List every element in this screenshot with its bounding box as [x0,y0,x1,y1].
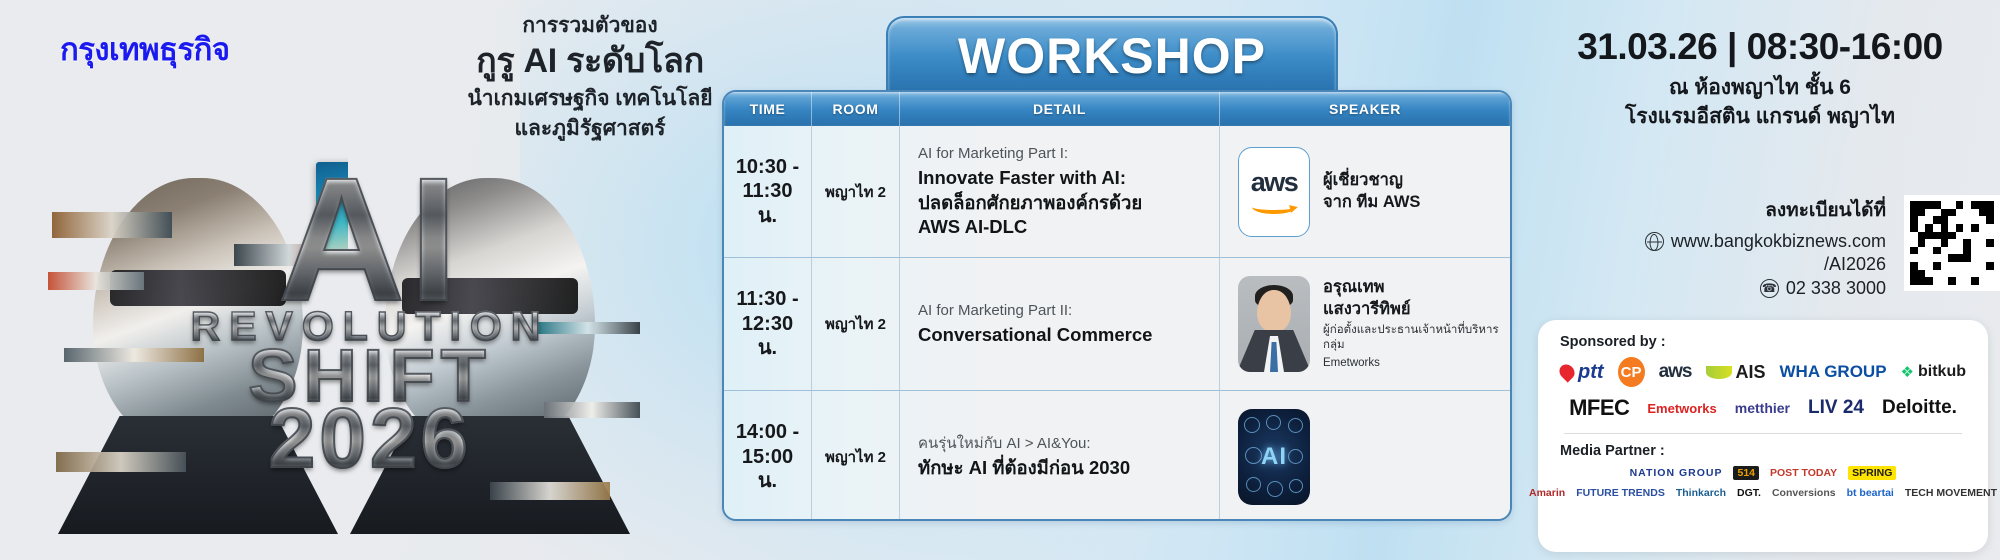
qr-module [1918,270,1926,278]
card-divider [1564,433,1962,434]
cell-detail: AI for Marketing Part I: Innovate Faster… [900,126,1220,257]
ai-tile-label: AI [1261,443,1287,471]
qr-module [1925,232,1933,240]
detail-title-line: Innovate Faster with AI: [918,166,1126,191]
qr-module [1925,209,1933,217]
table-header-row: TIME ROOM DETAIL SPEAKER [724,92,1510,126]
sponsor-card: Sponsored by : ptt CP aws AIS WHA GROUP … [1538,320,1988,552]
qr-module [1941,254,1949,262]
qr-module [1933,270,1941,278]
qr-module [1918,247,1926,255]
media-logo-amarin: Amarin [1529,487,1565,499]
qr-module [1979,201,1987,209]
qr-module [1918,224,1926,232]
qr-module [1910,209,1918,217]
speaker-name-line2: จาก ทีม AWS [1323,192,1420,213]
speaker-name-line2: แสงวารีทิพย์ [1323,299,1500,320]
qr-module [1918,254,1926,262]
qr-module [1948,239,1956,247]
speaker-name: อรุณเทพ [1323,277,1500,298]
sponsor-logo-emetworks: Emetworks [1647,401,1716,416]
qr-module [1986,201,1994,209]
registration-website-path[interactable]: /AI2026 [1824,253,1886,276]
neural-node-icon [1266,415,1281,430]
cell-room: พญาไท 2 [812,258,900,389]
qr-module [1925,247,1933,255]
qr-module [1933,247,1941,255]
sponsor-logo-bitkub: ❖bitkub [1901,363,1966,381]
qr-module [1979,262,1987,270]
qr-module [1925,201,1933,209]
qr-module [1971,270,1979,278]
neural-node-icon [1244,417,1260,433]
qr-module [1956,239,1964,247]
ai-brain-tile-icon: AI [1238,409,1310,505]
media-logo-tech-movement: TECH MOVEMENT [1905,487,1997,499]
qr-module [1941,209,1949,217]
glitch-shard [490,482,610,500]
qr-module [1918,209,1926,217]
headline-line-2: กูรู AI ระดับโลก [440,40,740,83]
qr-module [1986,247,1994,255]
qr-module [1933,262,1941,270]
detail-title-line: ทักษะ AI ที่ต้องมีก่อน 2030 [918,456,1130,481]
qr-module [1910,277,1918,285]
qr-module [1941,277,1949,285]
sponsor-logo-row-2: MFEC Emetworks metthier LIV 24 Deloitte. [1560,395,1966,421]
headline-line-1: การรวมตัวของ [440,12,740,39]
column-header-speaker: SPEAKER [1220,92,1510,126]
sponsor-logo-aws: aws [1659,361,1692,383]
qr-module [1910,201,1918,209]
qr-module [1979,254,1987,262]
media-logo-dgt: DGT. [1737,487,1761,499]
qr-module [1910,216,1918,224]
qr-module [1918,262,1926,270]
qr-module [1971,209,1979,217]
qr-module [1910,224,1918,232]
row-time-end: 15:00 น. [742,446,793,492]
sponsor-logo-liv24: LIV 24 [1808,397,1864,419]
qr-module [1910,232,1918,240]
qr-module [1948,247,1956,255]
brand-logo: กรุงเทพธุรกิจ [60,24,230,74]
qr-module [1941,232,1949,240]
qr-module [1925,224,1933,232]
qr-module [1986,270,1994,278]
sponsor-logo-ptt: ptt [1560,361,1604,384]
row-time-start: 11:30 - [736,288,798,310]
detail-title-line: Conversational Commerce [918,323,1152,348]
qr-module [1918,239,1926,247]
qr-module [1910,247,1918,255]
qr-module [1979,232,1987,240]
qr-module [1933,224,1941,232]
detail-title-line: AWS AI-DLC [918,215,1027,240]
sponsor-logo-metthier: metthier [1735,400,1790,416]
qr-module [1963,232,1971,240]
workshop-tab-label: WORKSHOP [958,27,1266,85]
qr-module [1948,209,1956,217]
table-row: 11:30 - 12:30 น. พญาไท 2 AI for Marketin… [724,258,1510,390]
neural-node-icon [1289,479,1303,493]
qr-module [1986,232,1994,240]
cell-detail: คนรุ่นใหม่กับ AI > AI&You: ทักษะ AI ที่ต… [900,391,1220,521]
qr-module [1941,201,1949,209]
qr-module [1971,254,1979,262]
registration-phone[interactable]: 02 338 3000 [1786,277,1886,300]
workshop-tab: WORKSHOP [886,16,1338,94]
sponsor-logo-mfec: MFEC [1569,395,1629,421]
registration-title: ลงทะเบียนได้ที่ [1538,195,1886,225]
registration-website-path-row[interactable]: /AI2026 [1538,253,1886,276]
registration-block: ลงทะเบียนได้ที่ www.bangkokbiznews.com /… [1520,195,2000,300]
qr-module [1971,262,1979,270]
qr-module [1941,224,1949,232]
qr-module [1979,270,1987,278]
media-logo-nation: NATION GROUP [1630,467,1723,479]
qr-module [1986,254,1994,262]
detail-title-line: ปลดล็อกศักยภาพองค์กรด้วย [918,191,1142,216]
qr-module [1963,247,1971,255]
qr-module [1971,239,1979,247]
artwork-title-lockup: AI REVOLUTION SHIFT 2026 [130,160,610,477]
neural-node-icon [1245,447,1262,464]
speaker-name: ผู้เชี่ยวชาญ [1323,170,1420,191]
sponsored-by-label: Sponsored by : [1560,334,1966,350]
qr-module [1979,216,1987,224]
qr-module [1933,254,1941,262]
cell-speaker: aws ผู้เชี่ยวชาญ จาก ทีม AWS [1220,126,1510,257]
speaker-text: อรุณเทพ แสงวารีทิพย์ ผู้ก่อตั้งและประธาน… [1323,277,1500,370]
qr-module [1918,277,1926,285]
row-time-start: 14:00 - [736,421,799,443]
sponsor-logo-cp: CP [1618,357,1645,387]
workshop-table: TIME ROOM DETAIL SPEAKER 10:30 - 11:30 น… [722,90,1512,521]
table-row: 10:30 - 11:30 น. พญาไท 2 AI for Marketin… [724,126,1510,258]
media-partner-row-2: Amarin FUTURE TRENDS Thinkarch DGT. Conv… [1560,487,1966,499]
qr-module [1925,262,1933,270]
registration-text: ลงทะเบียนได้ที่ www.bangkokbiznews.com /… [1538,195,1890,300]
media-logo-thinkarch: Thinkarch [1676,487,1726,499]
qr-module [1956,270,1964,278]
media-partner-row-1: NATION GROUP 514 POST TODAY SPRING [1560,466,1966,480]
qr-module [1910,254,1918,262]
qr-module [1963,262,1971,270]
qr-module [1979,209,1987,217]
qr-module [1963,270,1971,278]
qr-module [1933,232,1941,240]
artwork-title-year: 2026 [130,400,610,477]
qr-module [1948,216,1956,224]
qr-module [1925,239,1933,247]
qr-module [1986,277,1994,285]
qr-module [1933,216,1941,224]
detail-kicker: AI for Marketing Part II: [918,300,1072,321]
qr-module [1910,239,1918,247]
qr-module [1918,232,1926,240]
workshop-section: WORKSHOP TIME ROOM DETAIL SPEAKER 10:30 … [722,16,1512,521]
qr-module [1979,239,1987,247]
info-panel: 31.03.26 | 08:30-16:00 ณ ห้องพญาไท ชั้น … [1520,0,2000,560]
registration-website[interactable]: www.bangkokbiznews.com [1671,230,1886,253]
sponsor-logo-row-1: ptt CP aws AIS WHA GROUP ❖bitkub [1560,357,1966,387]
media-logo-conversions: Conversions [1772,487,1836,499]
headline-line-4: และภูมิรัฐศาสตร์ [440,115,740,143]
detail-kicker: AI for Marketing Part I: [918,143,1068,164]
qr-module [1979,224,1987,232]
ai-artwork: AI REVOLUTION SHIFT 2026 [30,130,710,560]
qr-module [1910,262,1918,270]
cell-speaker: อรุณเทพ แสงวารีทิพย์ ผู้ก่อตั้งและประธาน… [1220,258,1510,389]
qr-module [1956,201,1964,209]
qr-module [1956,216,1964,224]
event-banner: กรุงเทพธุรกิจ AI REVOLUTION SHIFT 2026 [0,0,2000,560]
qr-module [1948,224,1956,232]
row-time-end: 11:30 น. [742,180,792,226]
column-header-room: ROOM [812,92,900,126]
qr-module [1971,201,1979,209]
row-time-start: 10:30 - [736,156,799,178]
cell-room: พญาไท 2 [812,126,900,257]
qr-module [1963,224,1971,232]
qr-module [1963,277,1971,285]
phone-icon [1760,279,1779,298]
qr-module [1963,254,1971,262]
cell-room: พญาไท 2 [812,391,900,521]
sponsor-logo-ais: AIS [1706,362,1766,383]
row-time-end: 12:30 น. [742,313,793,359]
qr-module [1986,209,1994,217]
qr-module [1933,201,1941,209]
table-row: 14:00 - 15:00 น. พญาไท 2 คนรุ่นใหม่กับ A… [724,391,1510,521]
qr-module [1948,254,1956,262]
avatar-face [1257,290,1291,332]
media-logo-beartai: bt beartai [1847,487,1894,499]
qr-module [1948,277,1956,285]
qr-module [1986,262,1994,270]
media-partner-label: Media Partner : [1560,443,1966,459]
cell-speaker: AI [1220,391,1510,521]
qr-module [1918,216,1926,224]
globe-icon [1645,232,1664,251]
venue-line-1: ณ ห้องพญาไท ชั้น 6 [1520,74,2000,103]
qr-module [1986,216,1994,224]
qr-module [1986,224,1994,232]
speaker-role: ผู้ก่อตั้งและประธานเจ้าหน้าที่บริหารกลุ่… [1323,323,1500,352]
aws-wordmark: aws [1251,169,1298,196]
speaker-role-line2: Emetworks [1323,356,1500,371]
qr-module [1933,209,1941,217]
qr-module [1941,239,1949,247]
speaker-text: ผู้เชี่ยวชาญ จาก ทีม AWS [1323,170,1420,213]
qr-code[interactable] [1904,195,2000,291]
qr-module [1956,277,1964,285]
sponsor-logo-deloitte: Deloitte. [1882,397,1957,419]
media-logo-post-today: POST TODAY [1770,467,1837,479]
aws-smile-icon [1252,200,1296,214]
cell-detail: AI for Marketing Part II: Conversational… [900,258,1220,389]
qr-module [1963,201,1971,209]
qr-module [1948,232,1956,240]
neural-node-icon [1246,477,1261,492]
qr-module [1933,277,1941,285]
registration-phone-row[interactable]: 02 338 3000 [1538,277,1886,300]
qr-module [1956,247,1964,255]
qr-module [1956,224,1964,232]
qr-module [1956,209,1964,217]
qr-module [1925,270,1933,278]
venue-line-2: โรงแรมอีสติน แกรนด์ พญาไท [1520,103,2000,132]
cell-time: 10:30 - 11:30 น. [724,126,812,257]
cell-time: 11:30 - 12:30 น. [724,258,812,389]
qr-module [1956,262,1964,270]
neural-node-icon [1267,481,1283,497]
aws-logo-icon: aws [1238,147,1310,237]
qr-module [1918,201,1926,209]
sponsor-logo-wha: WHA GROUP [1780,362,1887,382]
registration-website-row[interactable]: www.bangkokbiznews.com [1538,230,1886,253]
qr-module [1941,216,1949,224]
qr-module [1971,277,1979,285]
qr-module [1971,247,1979,255]
event-venue: ณ ห้องพญาไท ชั้น 6 โรงแรมอีสติน แกรนด์ พ… [1520,74,2000,132]
media-logo-spring: SPRING [1848,466,1896,480]
qr-module [1963,209,1971,217]
detail-kicker: คนรุ่นใหม่กับ AI > AI&You: [918,433,1091,454]
headline-block: การรวมตัวของ กูรู AI ระดับโลก นำเกมเศรษฐ… [440,12,740,143]
qr-module [1956,232,1964,240]
qr-module [1910,270,1918,278]
event-date-time: 31.03.26 | 08:30-16:00 [1520,26,2000,68]
qr-module [1956,254,1964,262]
qr-module [1986,239,1994,247]
headline-line-3: นำเกมเศรษฐกิจ เทคโนโลยี [440,85,740,113]
media-logo-future-trends: FUTURE TRENDS [1576,487,1665,499]
qr-module [1925,277,1933,285]
qr-module [1941,247,1949,255]
column-header-detail: DETAIL [900,92,1220,126]
qr-module [1933,239,1941,247]
qr-module [1971,232,1979,240]
qr-module [1963,239,1971,247]
qr-module [1979,247,1987,255]
neural-node-icon [1288,418,1303,433]
qr-module [1941,270,1949,278]
artwork-title-ai: AI [130,160,610,322]
neural-node-icon [1288,449,1303,464]
cell-time: 14:00 - 15:00 น. [724,391,812,521]
qr-module [1971,224,1979,232]
qr-module [1979,277,1987,285]
qr-module [1948,270,1956,278]
speaker-photo-avatar [1238,276,1310,372]
qr-module [1941,262,1949,270]
qr-module [1925,254,1933,262]
qr-module [1948,262,1956,270]
qr-module [1948,201,1956,209]
qr-module [1963,216,1971,224]
qr-module [1971,216,1979,224]
media-logo-514: 514 [1733,466,1759,480]
qr-module [1925,216,1933,224]
